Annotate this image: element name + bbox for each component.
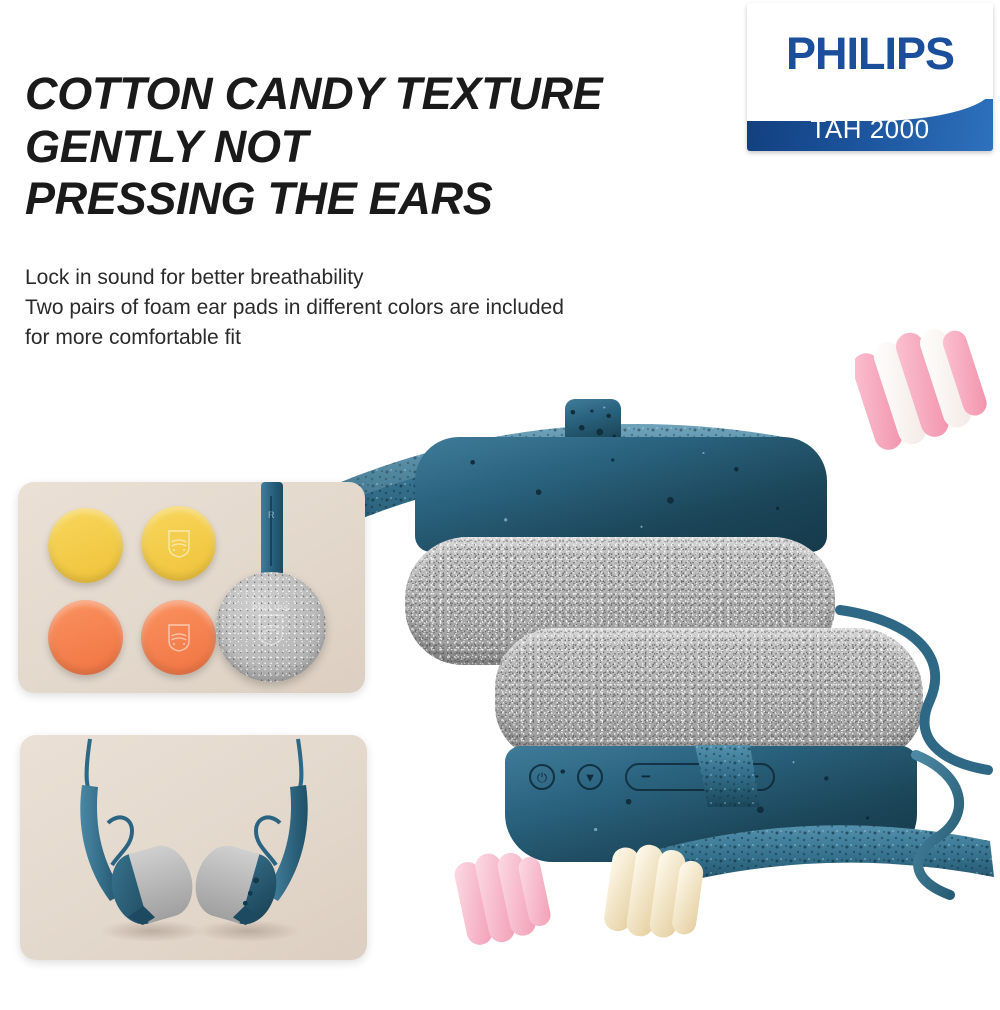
philips-shield-icon	[258, 614, 284, 646]
headline-line-3: PRESSING THE EARS	[25, 173, 725, 226]
philips-shield-icon	[168, 530, 190, 558]
subcopy-line-1: Lock in sound for better breathability	[25, 263, 765, 293]
subcopy-line-3: for more comfortable fit	[25, 323, 765, 353]
subcopy-line-2: Two pairs of foam ear pads in different …	[25, 293, 765, 323]
marshmallow-cream-icon	[600, 838, 710, 948]
pad-swatch-orange-plain[interactable]	[48, 600, 123, 675]
pad-swatch-yellow-logo[interactable]	[141, 506, 216, 581]
headline-line-1: COTTON CANDY TEXTURE	[25, 68, 725, 121]
bluetooth-call-icon[interactable]: ▼	[577, 764, 603, 790]
grey-pad-mounted[interactable]: PHILIPS	[216, 572, 326, 682]
pad-swatch-orange-logo[interactable]	[141, 600, 216, 675]
philips-brand-block: PHILIPS TAH 2000	[747, 3, 993, 151]
marshmallow-pink-icon	[452, 845, 557, 950]
arm-slider-track	[270, 496, 272, 566]
pad-swatch-yellow-plain[interactable]	[48, 508, 123, 583]
page-subcopy: Lock in sound for better breathability T…	[25, 263, 765, 352]
headline-line-2: GENTLY NOT	[25, 121, 725, 174]
grey-pad-logo: PHILIPS	[252, 604, 290, 651]
marshmallow-twist-icon	[855, 325, 990, 450]
philips-shield-icon	[168, 624, 190, 652]
page-headline: COTTON CANDY TEXTURE GENTLY NOT PRESSING…	[25, 68, 725, 226]
cable-right-upper	[820, 600, 1000, 820]
earcup-upper-shell	[415, 437, 827, 552]
headphones-pair-illustration	[20, 735, 367, 960]
philips-wordmark: PHILIPS	[786, 31, 954, 76]
headphone-arm-right: R	[261, 482, 283, 577]
power-icon[interactable]: ⏻	[529, 764, 555, 790]
ear-pad-colors-panel: R PHILIPS	[18, 482, 365, 693]
headphones-pair-panel	[20, 735, 367, 960]
